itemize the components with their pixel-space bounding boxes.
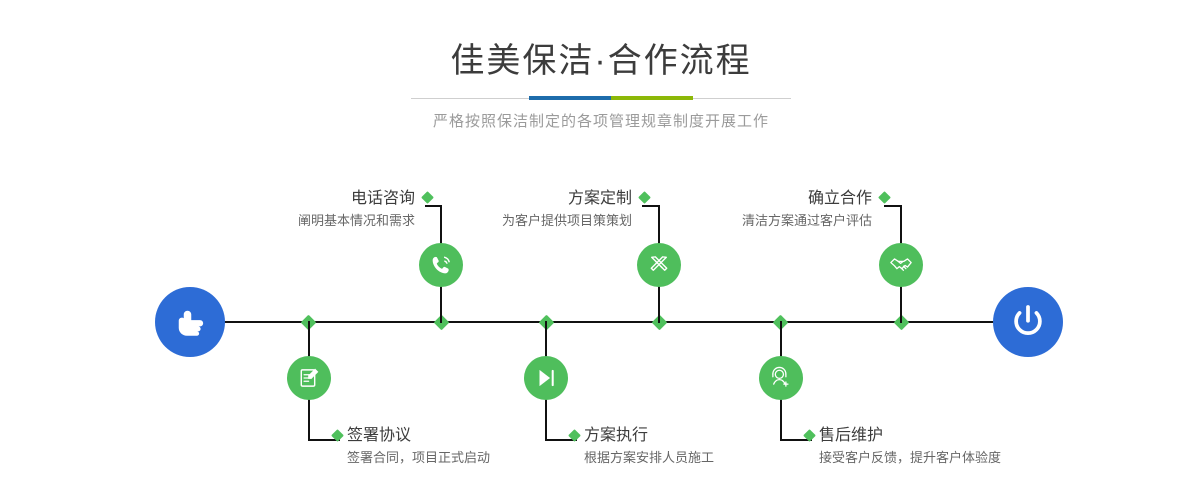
- step-icon-solution-execution[interactable]: [524, 356, 568, 400]
- timeline-end-node[interactable]: [993, 287, 1063, 357]
- step-icon-after-sales[interactable]: [759, 356, 803, 400]
- step-label-establish-cooperation: 确立合作 清洁方案通过客户评估: [640, 188, 872, 231]
- document-edit-icon: [296, 365, 322, 391]
- step-icon-solution-customization[interactable]: [637, 243, 681, 287]
- step-title: 售后维护: [819, 425, 1119, 447]
- phone-call-icon: [428, 252, 454, 278]
- step-icon-phone-consultation[interactable]: [419, 243, 463, 287]
- step-subtitle: 为客户提供项目策策划: [400, 211, 632, 231]
- axis-marker-2: [434, 315, 450, 331]
- handshake-icon: [888, 252, 914, 278]
- step-label-after-sales: 售后维护 接受客户反馈，提升客户体验度: [819, 425, 1119, 468]
- step-subtitle: 阐明基本情况和需求: [180, 211, 415, 231]
- title-divider: [411, 96, 791, 100]
- step-label-sign-agreement: 签署协议 签署合同，项目正式启动: [347, 425, 607, 468]
- step-icon-sign-agreement[interactable]: [287, 356, 331, 400]
- play-next-icon: [533, 365, 559, 391]
- axis-marker-3: [539, 315, 555, 331]
- step-subtitle: 接受客户反馈，提升客户体验度: [819, 448, 1119, 468]
- page-title: 佳美保洁·合作流程: [0, 40, 1202, 82]
- page-header: 佳美保洁·合作流程 严格按照保洁制定的各项管理规章制度开展工作: [0, 0, 1202, 132]
- label-tip-diamond: [878, 191, 891, 204]
- step-subtitle: 清洁方案通过客户评估: [640, 211, 872, 231]
- power-icon: [1008, 302, 1048, 342]
- step-label-solution-execution: 方案执行 根据方案安排人员施工: [584, 425, 844, 468]
- step-title: 电话咨询: [180, 188, 415, 210]
- step-title: 方案定制: [400, 188, 632, 210]
- step-subtitle: 签署合同，项目正式启动: [347, 448, 607, 468]
- pencil-ruler-icon: [646, 252, 672, 278]
- step-label-phone-consultation: 电话咨询 阐明基本情况和需求: [180, 188, 415, 231]
- step-subtitle: 根据方案安排人员施工: [584, 448, 844, 468]
- axis-marker-4: [652, 315, 668, 331]
- step-title: 确立合作: [640, 188, 872, 210]
- step-icon-establish-cooperation[interactable]: [879, 243, 923, 287]
- connector-step5-horizontal: [884, 205, 901, 207]
- flowchart-canvas: 佳美保洁·合作流程 严格按照保洁制定的各项管理规章制度开展工作: [0, 0, 1202, 502]
- divider-segment-blue: [529, 96, 611, 100]
- page-subtitle: 严格按照保洁制定的各项管理规章制度开展工作: [0, 112, 1202, 132]
- timeline-start-node[interactable]: [155, 287, 225, 357]
- step-label-solution-customization: 方案定制 为客户提供项目策策划: [400, 188, 632, 231]
- pointing-hand-icon: [170, 302, 210, 342]
- axis-marker-6: [894, 315, 910, 331]
- headset-support-icon: [768, 365, 794, 391]
- divider-segment-green: [611, 96, 693, 100]
